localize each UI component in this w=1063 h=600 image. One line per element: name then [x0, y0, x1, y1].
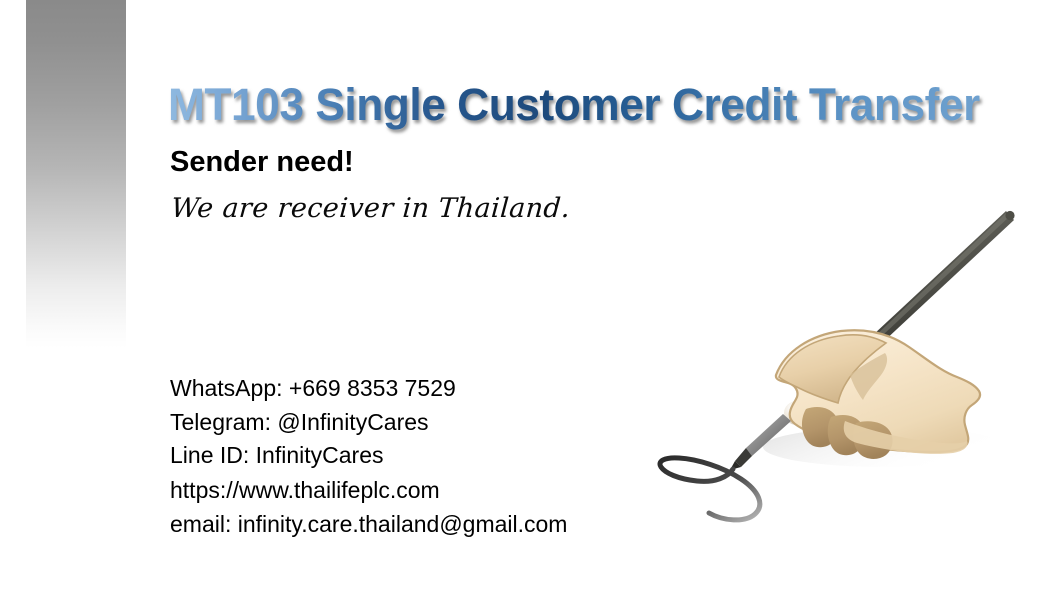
contact-details-block: WhatsApp: +669 8353 7529 Telegram: @Infi…	[170, 372, 690, 541]
slide-canvas: MT103 Single Customer Credit Transfer Se…	[0, 0, 1063, 600]
pen-cap	[1005, 211, 1014, 220]
heading-sender-need: Sender need!	[170, 144, 354, 180]
contact-line-whatsapp: WhatsApp: +669 8353 7529	[170, 372, 690, 406]
contact-line-line-id: Line ID: InfinityCares	[170, 439, 690, 473]
contact-line-website[interactable]: https://www.thailifeplc.com	[170, 473, 690, 507]
page-title: MT103 Single Customer Credit Transfer	[168, 77, 980, 133]
left-gradient-bar	[26, 0, 126, 348]
contact-line-telegram: Telegram: @InfinityCares	[170, 406, 690, 440]
contact-line-email[interactable]: email: infinity.care.thailand@gmail.com	[170, 507, 690, 541]
subheading-receiver-thailand: We are receiver in Thailand.	[170, 192, 571, 226]
hand-writing-illustration	[645, 195, 1045, 535]
ink-squiggle	[660, 458, 760, 520]
